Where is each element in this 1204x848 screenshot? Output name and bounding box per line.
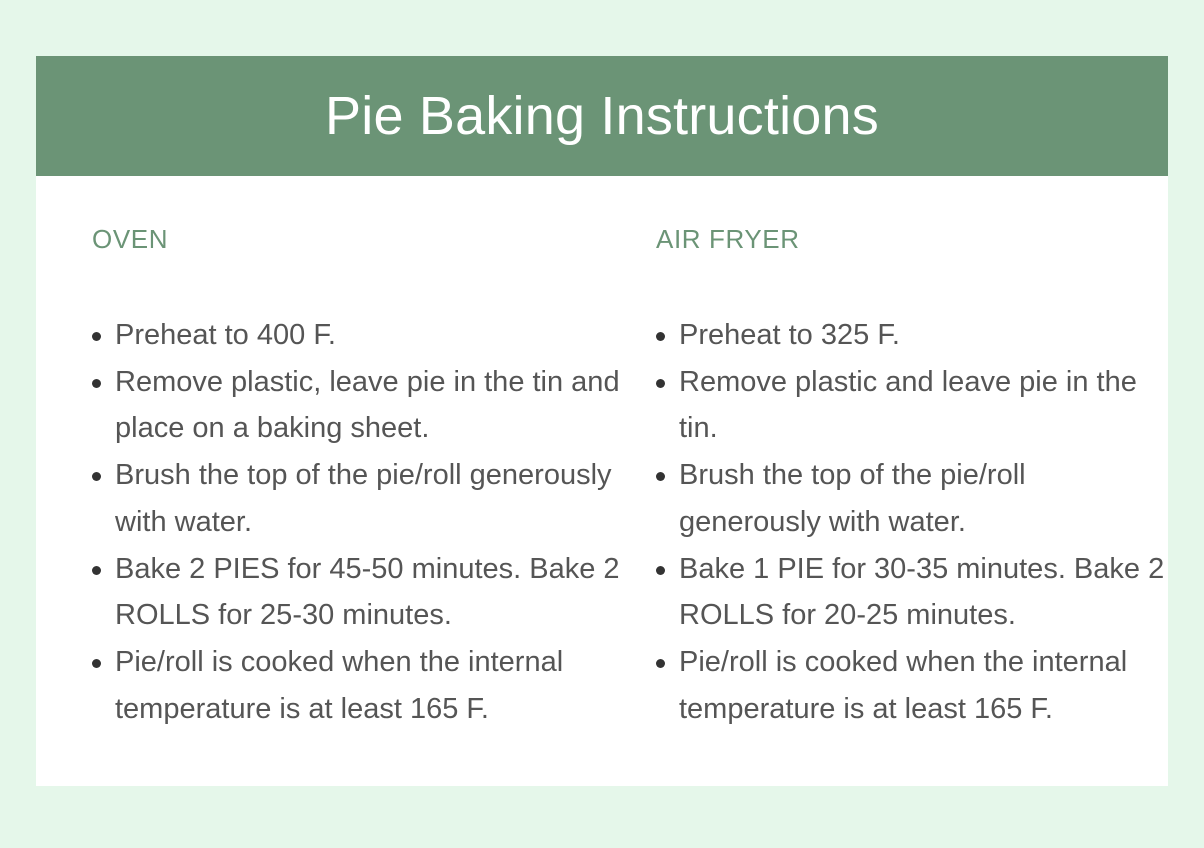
card-body: OVEN Preheat to 400 F. Remove plastic, l… xyxy=(36,176,1168,786)
step-text: Brush the top of the pie/roll generously… xyxy=(115,452,640,545)
step-text: Brush the top of the pie/roll generously… xyxy=(679,452,1168,545)
list-item: Bake 1 PIE for 30-35 minutes. Bake 2 ROL… xyxy=(656,546,1168,639)
step-text: Pie/roll is cooked when the internal tem… xyxy=(115,639,640,732)
page-title: Pie Baking Instructions xyxy=(325,89,879,143)
list-item: Remove plastic and leave pie in the tin. xyxy=(656,359,1168,452)
list-item: Preheat to 325 F. xyxy=(656,312,1168,359)
step-list-oven: Preheat to 400 F. Remove plastic, leave … xyxy=(92,252,640,732)
step-text: Bake 2 PIES for 45-50 minutes. Bake 2 RO… xyxy=(115,546,640,639)
list-item: Preheat to 400 F. xyxy=(92,312,640,359)
list-item: Pie/roll is cooked when the internal tem… xyxy=(656,639,1168,732)
step-list-air-fryer: Preheat to 325 F. Remove plastic and lea… xyxy=(656,252,1168,732)
column-oven: OVEN Preheat to 400 F. Remove plastic, l… xyxy=(92,176,640,732)
list-item: Brush the top of the pie/roll generously… xyxy=(92,452,640,545)
instructions-card: Pie Baking Instructions OVEN Preheat to … xyxy=(36,56,1168,786)
card-header: Pie Baking Instructions xyxy=(36,56,1168,176)
list-item: Remove plastic, leave pie in the tin and… xyxy=(92,359,640,452)
column-heading-air-fryer: AIR FRYER xyxy=(656,176,1168,252)
list-item: Bake 2 PIES for 45-50 minutes. Bake 2 RO… xyxy=(92,546,640,639)
page-root: Pie Baking Instructions OVEN Preheat to … xyxy=(0,0,1204,848)
column-heading-oven: OVEN xyxy=(92,176,640,252)
column-air-fryer: AIR FRYER Preheat to 325 F. Remove plast… xyxy=(656,176,1168,732)
list-item: Pie/roll is cooked when the internal tem… xyxy=(92,639,640,732)
step-text: Pie/roll is cooked when the internal tem… xyxy=(679,639,1168,732)
step-text: Remove plastic, leave pie in the tin and… xyxy=(115,359,640,452)
step-text: Preheat to 325 F. xyxy=(679,312,1168,359)
step-text: Remove plastic and leave pie in the tin. xyxy=(679,359,1168,452)
step-text: Bake 1 PIE for 30-35 minutes. Bake 2 ROL… xyxy=(679,546,1168,639)
step-text: Preheat to 400 F. xyxy=(115,312,640,359)
list-item: Brush the top of the pie/roll generously… xyxy=(656,452,1168,545)
